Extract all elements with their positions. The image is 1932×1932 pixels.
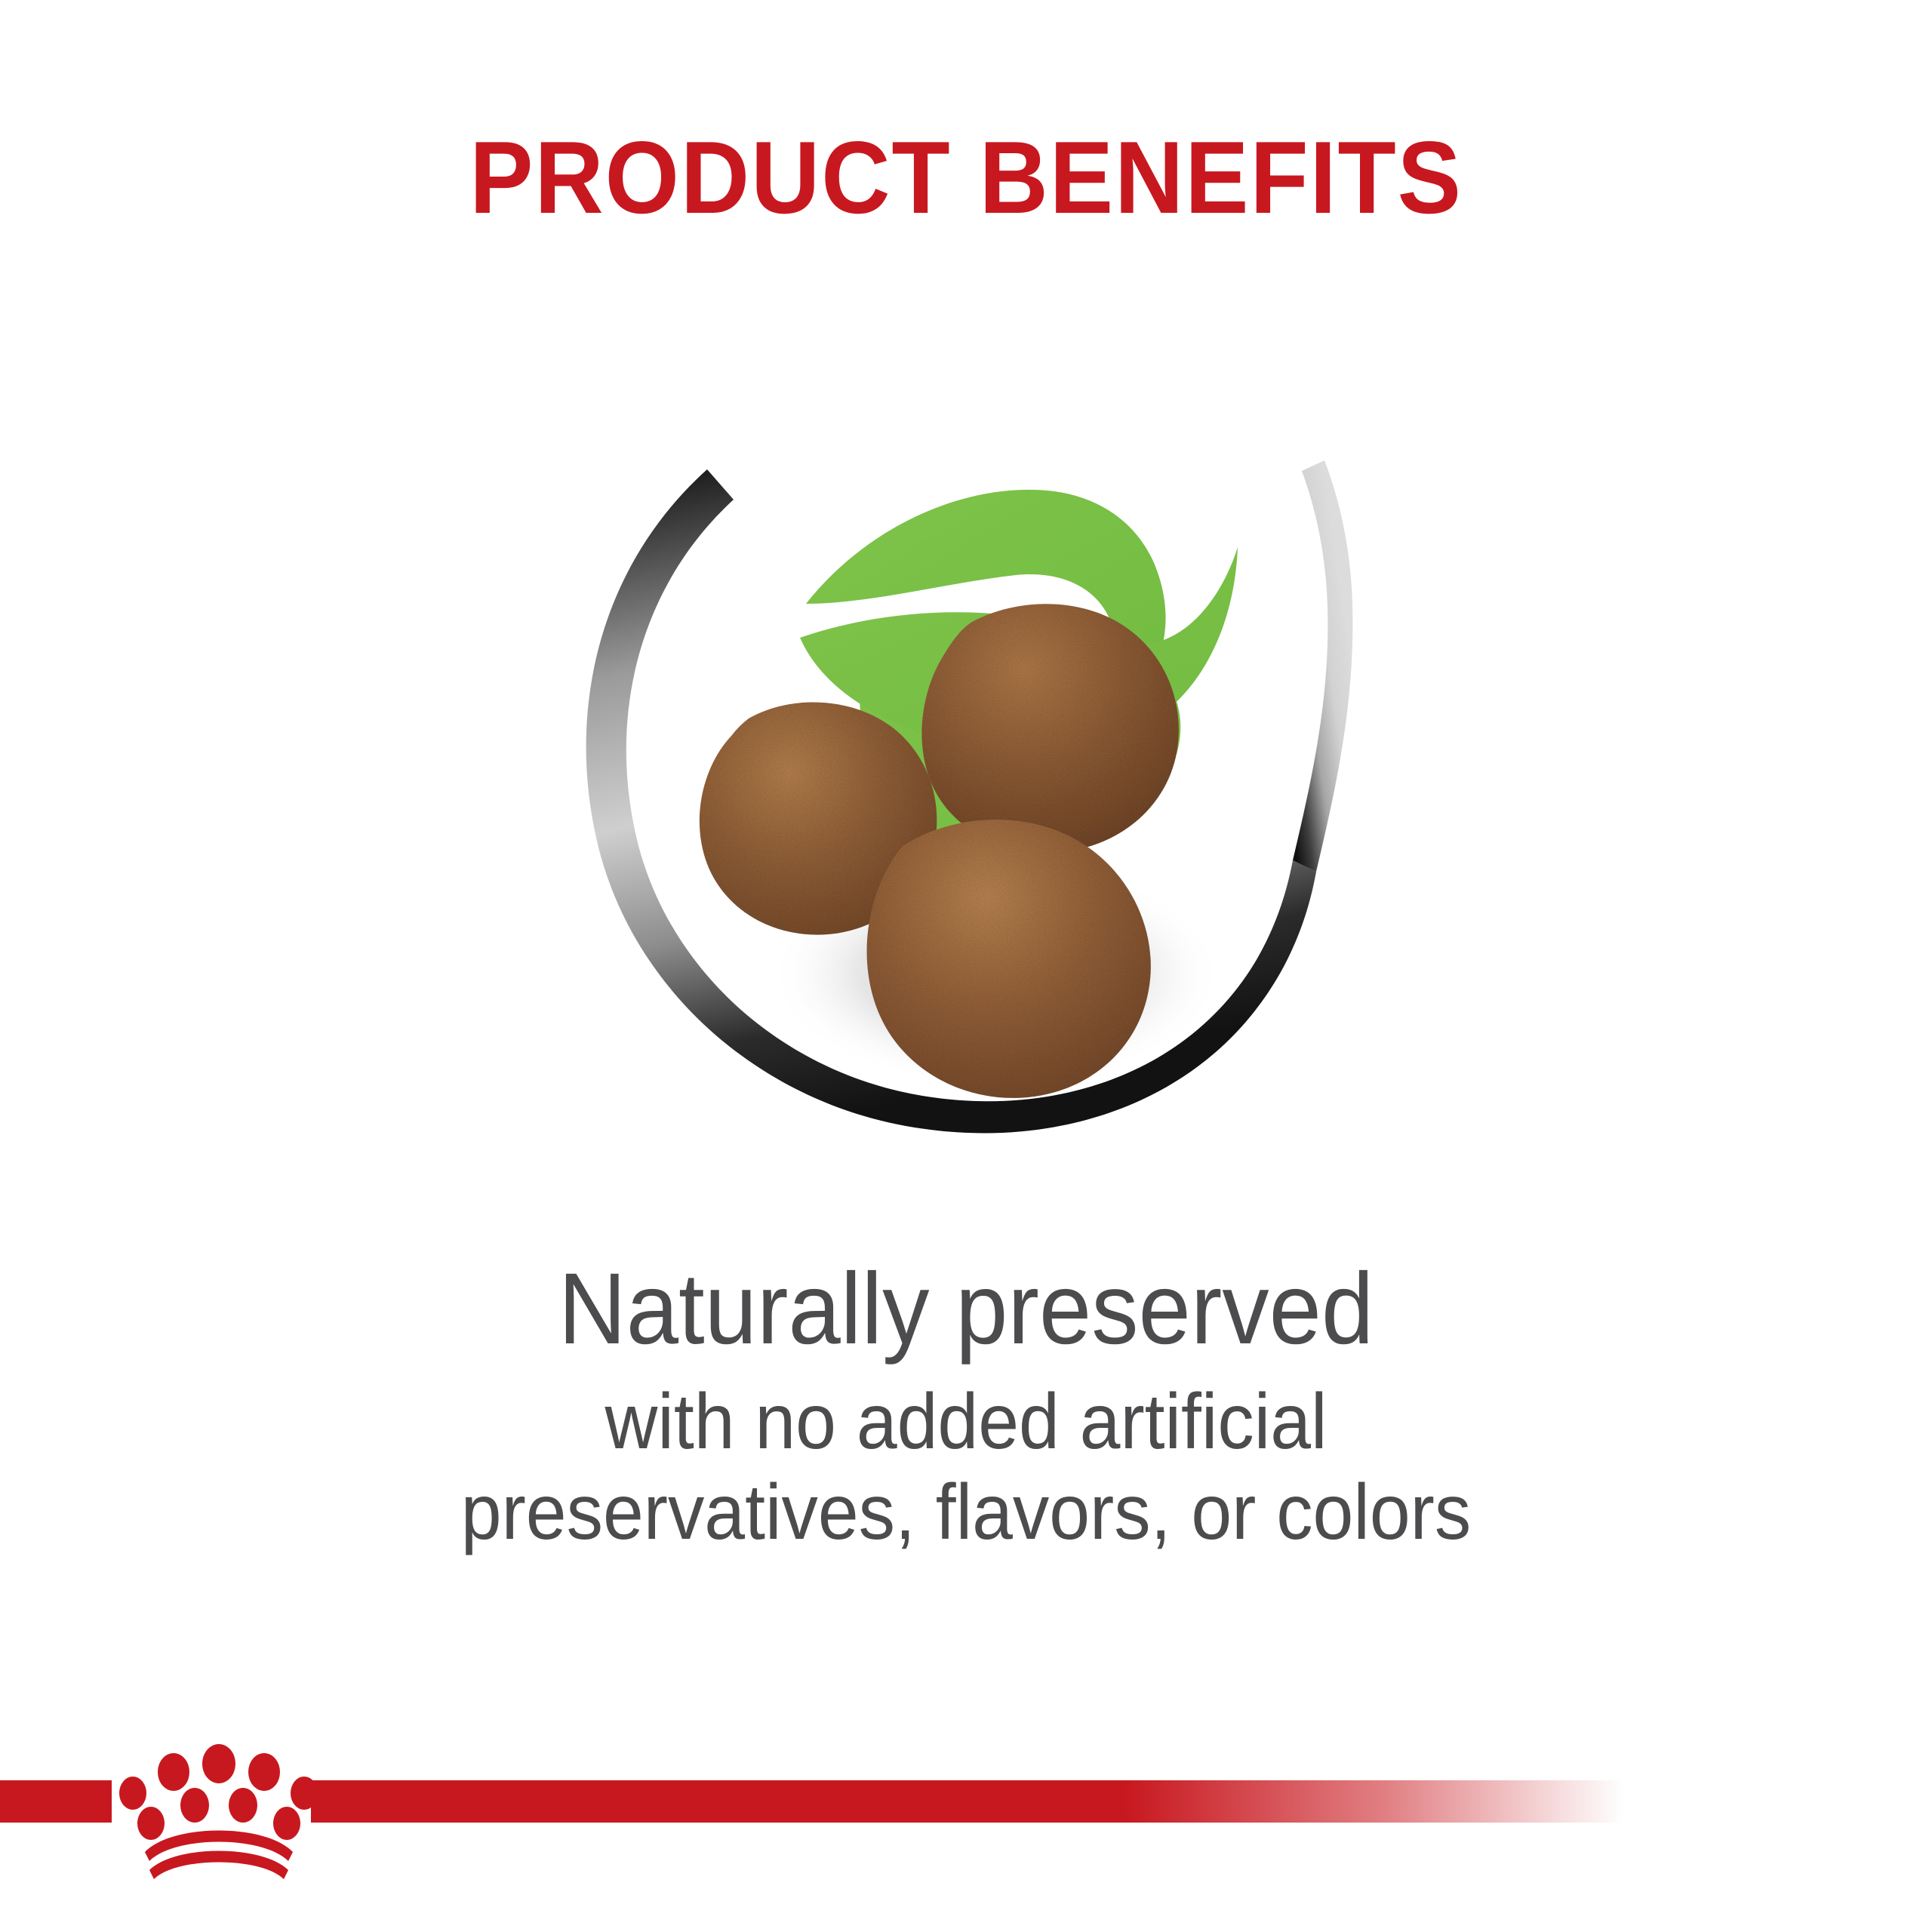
brand-bar-left xyxy=(0,1780,112,1823)
product-benefits-page: PRODUCT BENEFITS xyxy=(0,0,1932,1932)
benefit-headline: Naturally preserved xyxy=(68,1253,1865,1366)
natural-preservation-icon xyxy=(574,377,1358,1192)
crown-icon xyxy=(119,1744,318,1879)
benefit-subline-1: with no added artificial xyxy=(68,1377,1865,1467)
benefit-copy: Naturally preserved with no added artifi… xyxy=(0,1253,1932,1558)
brand-footer xyxy=(0,1766,1932,1932)
brand-bar-right xyxy=(311,1780,1624,1823)
benefit-subcopy: with no added artificial preservatives, … xyxy=(68,1366,1865,1558)
page-title: PRODUCT BENEFITS xyxy=(68,121,1865,234)
kibble-bottom xyxy=(867,820,1151,1098)
ring-arc-right xyxy=(1293,460,1352,872)
royal-canin-crown-logo xyxy=(113,1739,325,1890)
kibble-top-right xyxy=(921,604,1178,852)
benefit-subline-2: preservatives, flavors, or colors xyxy=(68,1467,1865,1558)
kibble-pieces xyxy=(700,604,1179,1098)
